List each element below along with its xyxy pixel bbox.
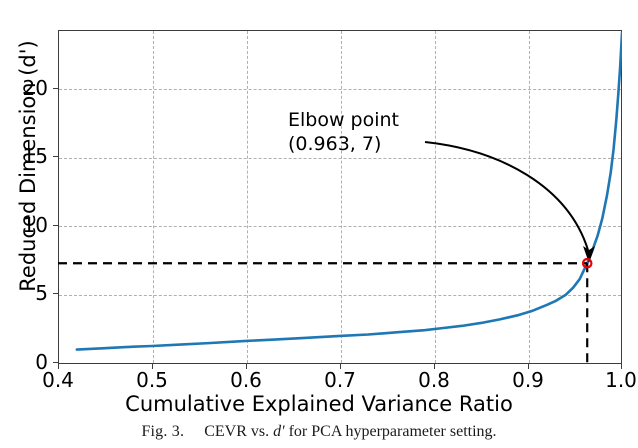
- xticklabel-1: 0.5: [117, 369, 187, 391]
- xticklabel-4: 0.8: [399, 369, 469, 391]
- caption-number: Fig. 3.: [141, 423, 184, 440]
- ytick-5: [53, 293, 58, 294]
- xticklabel-2: 0.6: [211, 369, 281, 391]
- gridline-vertical-0.9: [529, 31, 530, 363]
- yticklabel-0: 0: [0, 352, 48, 372]
- figure-caption: Fig. 3. CEVR vs. d′ for PCA hyperparamet…: [0, 423, 638, 441]
- gridline-horizontal-5: [59, 295, 621, 296]
- xticklabel-5: 0.9: [493, 369, 563, 391]
- ytick-15: [53, 156, 58, 157]
- xticklabel-6: 1.0: [586, 369, 638, 391]
- caption-symbol: d′: [273, 423, 285, 440]
- y-axis-label-wrapper: Reduced Dimension (d'): [15, 0, 41, 333]
- figure-container: 0.4 0.5 0.6 0.7 0.8 0.9 1.0 0 5 10 15 20…: [0, 0, 638, 448]
- gridline-vertical-0.7: [341, 31, 342, 363]
- caption-suffix: for PCA hyperparameter setting.: [289, 423, 497, 440]
- y-axis-label: Reduced Dimension (d'): [15, 0, 41, 333]
- plot-area: [58, 30, 622, 364]
- ytick-20: [53, 88, 58, 89]
- gridline-horizontal-15: [59, 158, 621, 159]
- gridline-vertical-0.8: [435, 31, 436, 363]
- caption-text: CEVR vs.: [204, 423, 269, 440]
- gridline-vertical-0.6: [247, 31, 248, 363]
- xticklabel-3: 0.7: [305, 369, 375, 391]
- elbow-annotation-line2: (0.963, 7): [288, 132, 399, 156]
- elbow-annotation-text: Elbow point (0.963, 7): [288, 108, 399, 156]
- gridline-vertical-0.5: [153, 31, 154, 363]
- gridline-horizontal-20: [59, 89, 621, 90]
- x-axis-label: Cumulative Explained Variance Ratio: [0, 392, 638, 416]
- ytick-0: [53, 362, 58, 363]
- elbow-annotation-line1: Elbow point: [288, 108, 399, 132]
- gridline-horizontal-10: [59, 226, 621, 227]
- ytick-10: [53, 225, 58, 226]
- xticklabel-0: 0.4: [23, 369, 93, 391]
